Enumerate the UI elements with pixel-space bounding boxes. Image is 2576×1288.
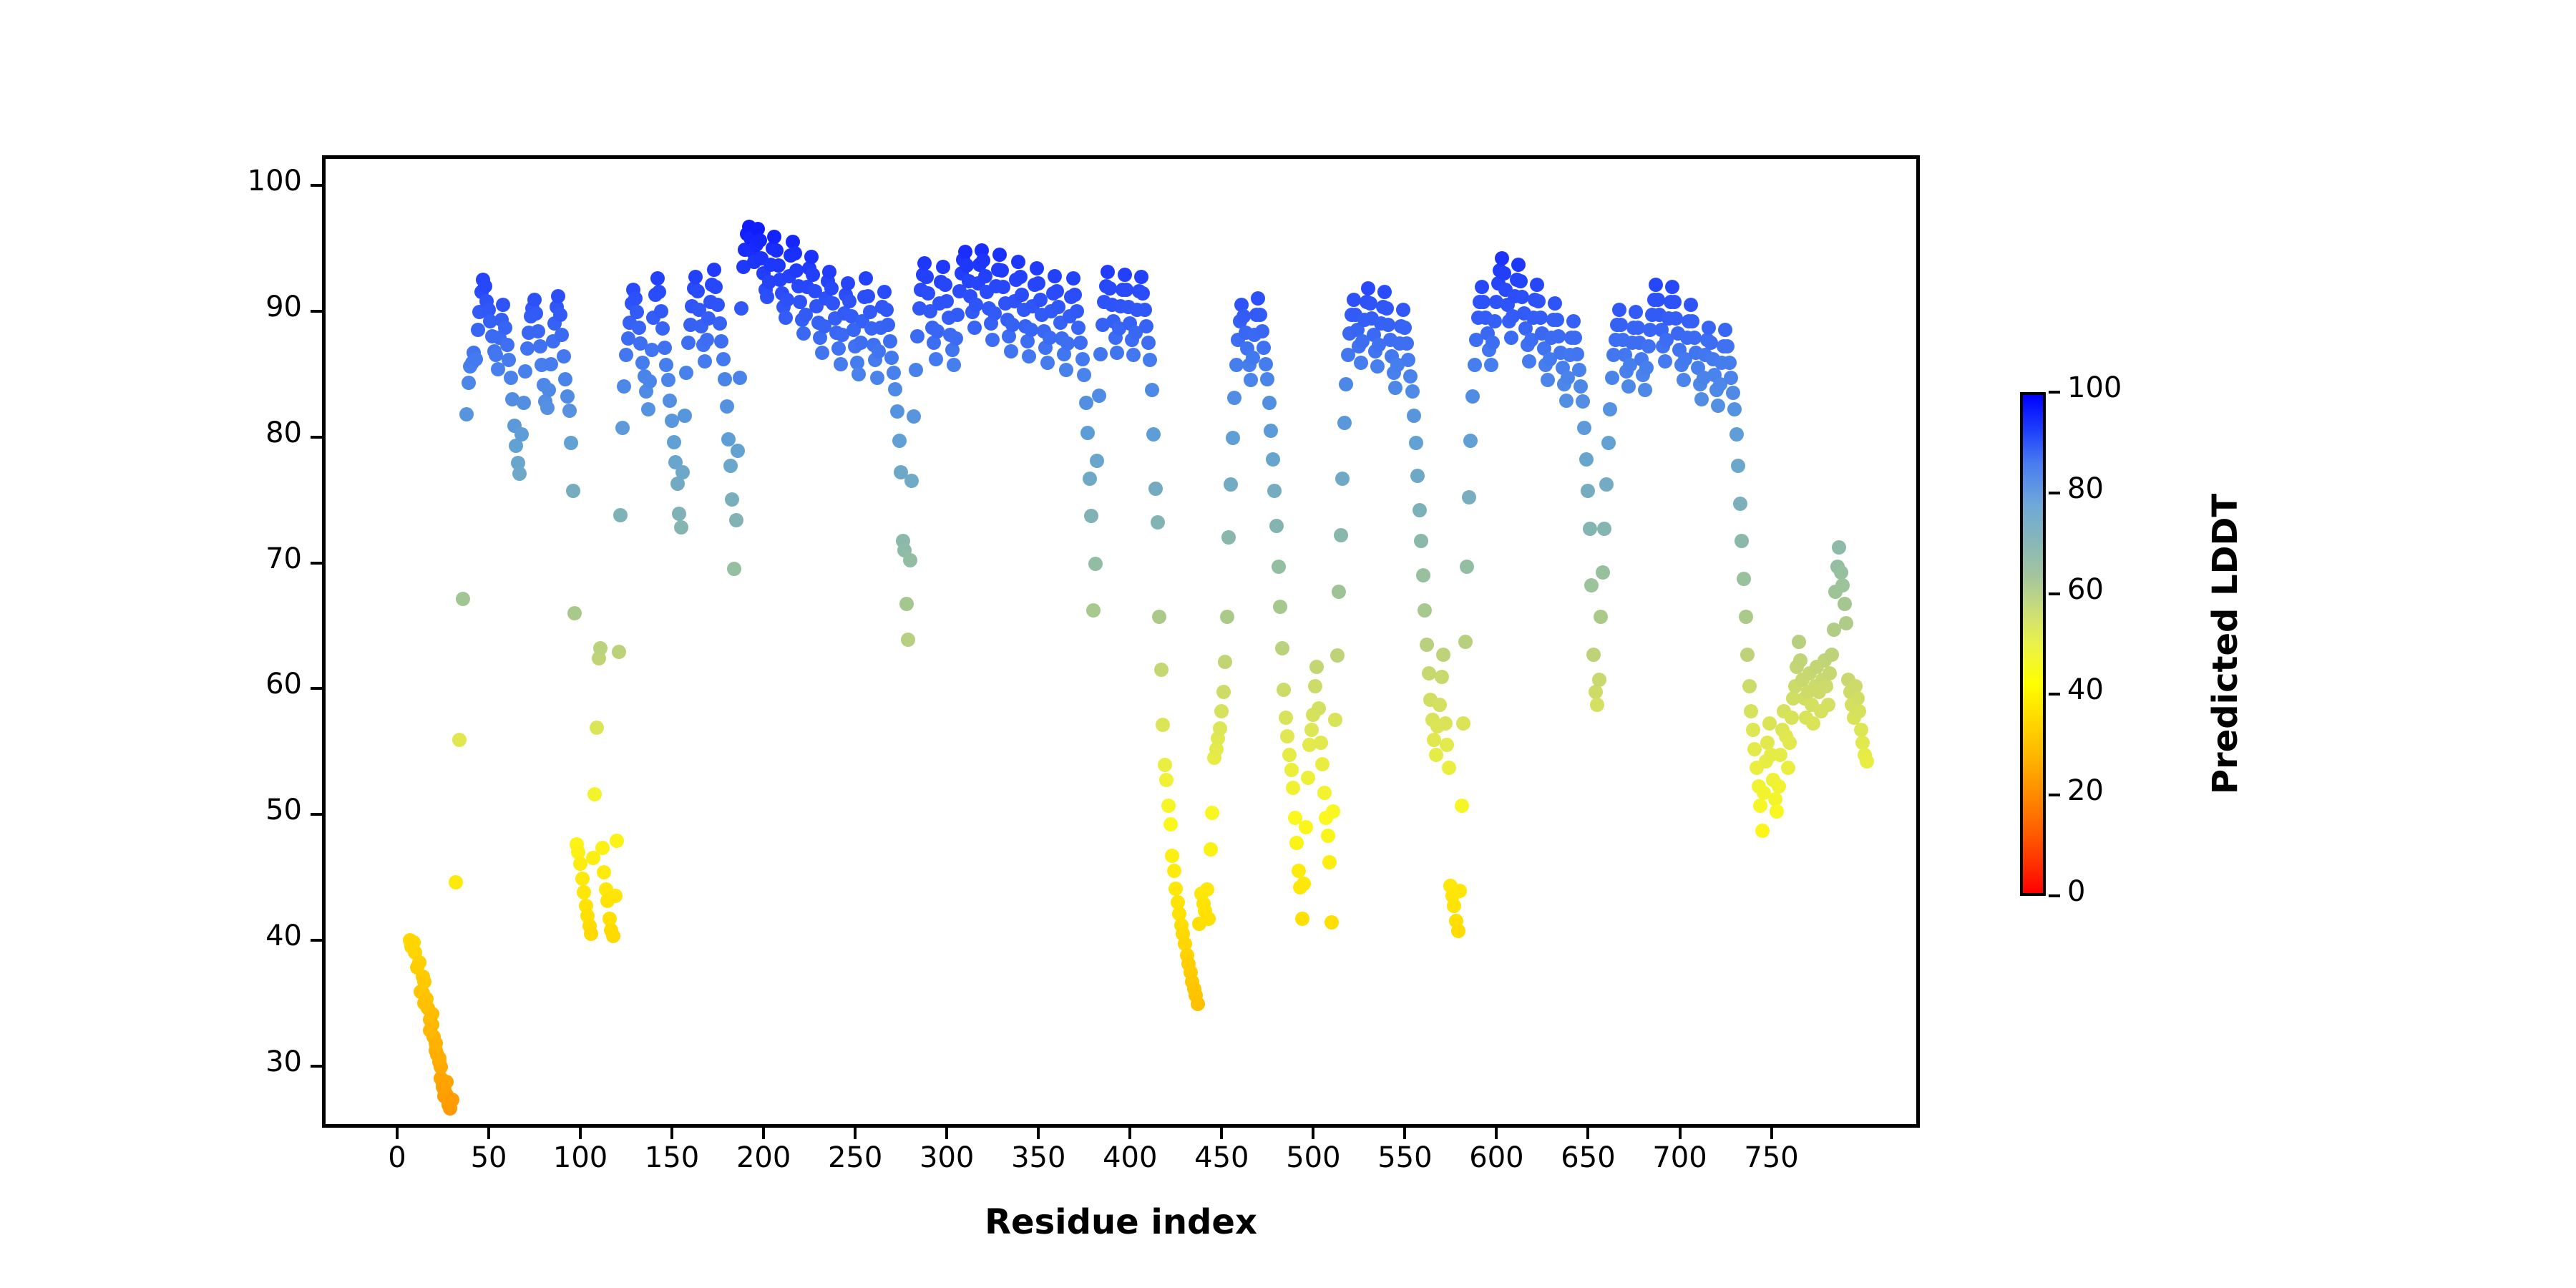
scatter-point xyxy=(1684,298,1698,312)
y-tick-mark xyxy=(311,687,322,690)
scatter-point xyxy=(1629,305,1643,319)
scatter-point xyxy=(1793,653,1807,668)
scatter-point xyxy=(767,230,781,244)
scatter-point xyxy=(1280,729,1294,743)
scatter-point xyxy=(907,409,921,424)
scatter-point xyxy=(675,465,690,479)
scatter-point xyxy=(553,308,567,322)
scatter-point xyxy=(938,278,952,292)
scatter-point xyxy=(877,285,892,299)
scatter-point xyxy=(564,436,578,450)
scatter-point xyxy=(1403,369,1418,384)
scatter-point xyxy=(1361,281,1375,296)
scatter-point xyxy=(1169,882,1183,896)
scatter-point xyxy=(1267,484,1282,498)
scatter-point xyxy=(1090,454,1104,468)
scatter-point xyxy=(615,421,630,435)
scatter-point xyxy=(628,291,643,306)
scatter-point xyxy=(688,270,703,284)
plot-axes xyxy=(322,155,1920,1128)
scatter-point xyxy=(1458,635,1473,649)
scatter-point xyxy=(1141,336,1156,350)
scatter-point xyxy=(595,841,610,855)
scatter-point xyxy=(632,321,646,335)
scatter-point xyxy=(1463,434,1478,448)
scatter-point xyxy=(691,284,705,298)
x-tick-label: 550 xyxy=(1362,1143,1448,1172)
x-tick-mark xyxy=(1586,1128,1589,1139)
scatter-point xyxy=(606,929,620,943)
scatter-point xyxy=(1737,572,1751,586)
scatter-point xyxy=(1401,353,1415,367)
scatter-point xyxy=(1226,431,1240,445)
y-tick-mark xyxy=(311,562,322,565)
scatter-point xyxy=(1835,578,1850,592)
scatter-point xyxy=(1400,336,1414,351)
scatter-point xyxy=(612,645,626,659)
scatter-point xyxy=(1251,291,1265,306)
scatter-point xyxy=(1324,915,1339,930)
scatter-point xyxy=(753,233,767,248)
scatter-point xyxy=(1221,530,1236,545)
scatter-point xyxy=(518,364,532,379)
scatter-point xyxy=(1138,303,1152,317)
scatter-point xyxy=(1436,648,1450,662)
scatter-point xyxy=(1048,269,1062,283)
scatter-point xyxy=(1832,540,1846,555)
x-tick-mark xyxy=(854,1128,857,1139)
scatter-point xyxy=(1806,716,1820,731)
scatter-point xyxy=(1416,568,1430,582)
scatter-point xyxy=(713,316,727,331)
scatter-point xyxy=(1462,490,1476,504)
scatter-point xyxy=(555,328,569,342)
scatter-point xyxy=(815,346,829,360)
scatter-point xyxy=(769,243,784,258)
scatter-point xyxy=(806,268,820,282)
scatter-point xyxy=(698,354,712,369)
scatter-point xyxy=(1244,373,1258,387)
x-tick-mark xyxy=(1679,1128,1682,1139)
scatter-point xyxy=(1139,319,1153,333)
x-tick-label: 350 xyxy=(995,1143,1081,1172)
colorbar-tick-label: 20 xyxy=(2067,776,2104,805)
scatter-point xyxy=(478,279,492,293)
scatter-point xyxy=(643,374,657,389)
scatter-point xyxy=(654,304,668,318)
scatter-point xyxy=(1080,426,1095,440)
x-tick-mark xyxy=(1770,1128,1773,1139)
scatter-point xyxy=(1601,436,1616,450)
scatter-point xyxy=(1224,477,1238,492)
scatter-point xyxy=(1488,314,1502,328)
scatter-point xyxy=(658,341,672,355)
x-tick-label: 450 xyxy=(1179,1143,1264,1172)
scatter-point xyxy=(1200,882,1214,897)
scatter-point xyxy=(1266,452,1280,467)
colorbar-tick-label: 80 xyxy=(2067,474,2104,503)
scatter-point xyxy=(879,303,894,317)
scatter-point xyxy=(804,250,819,264)
scatter-point xyxy=(566,484,580,498)
scatter-point xyxy=(1321,829,1335,843)
scatter-point xyxy=(527,293,542,307)
scatter-point xyxy=(613,508,628,522)
scatter-point xyxy=(1755,824,1770,838)
colorbar-gradient xyxy=(2020,392,2046,896)
scatter-point xyxy=(1586,648,1601,662)
scatter-point xyxy=(1397,321,1412,335)
colorbar-tick-mark xyxy=(2049,693,2060,696)
scatter-point xyxy=(760,290,774,304)
scatter-point xyxy=(1272,560,1286,574)
x-tick-mark xyxy=(1403,1128,1406,1139)
x-tick-label: 50 xyxy=(446,1143,532,1172)
y-tick-mark xyxy=(311,184,322,187)
scatter-point xyxy=(1504,331,1518,345)
scatter-point xyxy=(540,401,555,415)
scatter-point xyxy=(573,857,587,871)
y-tick-label: 80 xyxy=(173,419,302,447)
scatter-point xyxy=(1584,578,1599,592)
scatter-point xyxy=(1161,799,1176,813)
scatter-point xyxy=(1033,293,1048,307)
scatter-point xyxy=(1370,359,1385,374)
scatter-point xyxy=(1088,557,1103,571)
scatter-point xyxy=(432,1051,447,1065)
scatter-point xyxy=(731,444,745,458)
scatter-point xyxy=(1191,997,1205,1011)
scatter-point xyxy=(1497,266,1511,280)
scatter-point xyxy=(1740,648,1755,662)
scatter-point xyxy=(1792,635,1806,649)
scatter-point xyxy=(987,306,1002,321)
scatter-point xyxy=(1559,394,1574,408)
scatter-point xyxy=(1581,484,1595,498)
scatter-point xyxy=(1289,836,1304,850)
scatter-point xyxy=(469,352,483,366)
x-tick-mark xyxy=(579,1128,582,1139)
scatter-point xyxy=(496,298,510,312)
scatter-point xyxy=(452,733,467,747)
scatter-point xyxy=(729,513,743,527)
scatter-point xyxy=(1146,427,1161,441)
scatter-point xyxy=(1548,296,1562,311)
scatter-point xyxy=(1314,736,1328,750)
scatter-point xyxy=(1339,377,1353,391)
scatter-point xyxy=(562,404,577,418)
scatter-point xyxy=(1522,354,1536,369)
scatter-point xyxy=(544,357,558,371)
scatter-layer xyxy=(326,159,1916,1124)
scatter-point xyxy=(1451,924,1465,938)
scatter-point xyxy=(917,256,932,270)
scatter-point xyxy=(558,372,572,386)
scatter-point xyxy=(514,427,529,441)
scatter-point xyxy=(1079,396,1093,410)
scatter-point xyxy=(788,246,802,260)
scatter-point xyxy=(723,459,738,473)
scatter-point xyxy=(1485,336,1500,350)
scatter-point xyxy=(1275,641,1289,655)
scatter-point xyxy=(663,394,677,408)
scatter-point xyxy=(1531,294,1546,308)
scatter-point xyxy=(887,366,901,380)
y-tick-label: 90 xyxy=(173,293,302,321)
scatter-point xyxy=(1201,912,1216,926)
x-tick-label: 750 xyxy=(1729,1143,1815,1172)
scatter-point xyxy=(1335,472,1350,486)
scatter-point xyxy=(449,875,463,889)
scatter-point xyxy=(1735,534,1749,548)
scatter-point xyxy=(441,1096,456,1110)
scatter-point xyxy=(1297,877,1311,891)
scatter-point xyxy=(512,467,527,481)
scatter-point xyxy=(1433,698,1447,712)
x-tick-mark xyxy=(396,1128,399,1139)
scatter-point xyxy=(967,321,982,335)
scatter-point xyxy=(456,592,470,606)
colorbar-tick-label: 60 xyxy=(2067,575,2104,604)
scatter-point xyxy=(1422,666,1436,680)
scatter-point xyxy=(661,373,675,387)
scatter-point xyxy=(1447,899,1461,913)
scatter-point xyxy=(947,358,961,372)
scatter-point xyxy=(842,294,857,308)
scatter-point xyxy=(1148,482,1163,496)
scatter-point xyxy=(883,334,897,348)
scatter-point xyxy=(1704,336,1718,350)
scatter-point xyxy=(1770,804,1784,819)
scatter-point xyxy=(1101,265,1115,279)
scatter-point xyxy=(665,414,679,428)
colorbar-tick-mark xyxy=(2049,894,2060,897)
scatter-point xyxy=(1312,701,1326,716)
colorbar-tick-mark xyxy=(2049,794,2060,796)
scatter-point xyxy=(1781,761,1795,775)
y-tick-label: 30 xyxy=(173,1048,302,1076)
scatter-point xyxy=(714,334,728,348)
x-tick-label: 0 xyxy=(354,1143,440,1172)
scatter-point xyxy=(641,402,655,416)
scatter-point xyxy=(577,885,591,899)
scatter-point xyxy=(1592,673,1606,687)
scatter-point xyxy=(1453,884,1467,898)
scatter-point xyxy=(904,474,919,488)
scatter-point xyxy=(1119,283,1133,297)
scatter-point xyxy=(1468,358,1482,372)
scatter-point xyxy=(1724,371,1738,385)
scatter-point xyxy=(1456,716,1470,731)
scatter-point xyxy=(1236,309,1251,323)
scatter-point xyxy=(1667,295,1682,309)
scatter-point xyxy=(1050,284,1064,298)
scatter-point xyxy=(1739,610,1753,624)
scatter-point xyxy=(1455,799,1469,813)
scatter-point xyxy=(1860,754,1874,769)
x-tick-label: 600 xyxy=(1453,1143,1539,1172)
scatter-point xyxy=(1282,748,1297,762)
scatter-point xyxy=(718,372,732,386)
scatter-point xyxy=(789,263,804,278)
scatter-point xyxy=(884,351,899,365)
scatter-point xyxy=(1066,271,1080,286)
scatter-point xyxy=(630,305,644,319)
y-tick-label: 60 xyxy=(173,670,302,698)
scatter-point xyxy=(1762,716,1777,731)
x-tick-mark xyxy=(1128,1128,1131,1139)
scatter-point xyxy=(1334,528,1348,542)
scatter-point xyxy=(903,553,917,567)
scatter-point xyxy=(1317,786,1332,800)
scatter-point xyxy=(708,280,723,294)
scatter-point xyxy=(1152,610,1166,624)
scatter-point xyxy=(1566,314,1581,328)
scatter-point xyxy=(940,294,954,308)
scatter-point xyxy=(992,248,1007,262)
scatter-point xyxy=(1605,371,1619,385)
scatter-point xyxy=(1720,339,1735,353)
scatter-point xyxy=(1118,268,1132,282)
scatter-point xyxy=(652,285,666,299)
x-tick-mark xyxy=(487,1128,490,1139)
x-tick-label: 250 xyxy=(812,1143,898,1172)
scatter-point xyxy=(1024,323,1038,337)
scatter-point xyxy=(617,379,631,394)
scatter-point xyxy=(1418,603,1432,618)
scatter-point xyxy=(459,407,474,421)
scatter-point xyxy=(1163,817,1178,831)
scatter-point xyxy=(1603,402,1617,416)
scatter-point xyxy=(1440,738,1454,752)
y-tick-label: 40 xyxy=(173,922,302,950)
x-tick-mark xyxy=(1220,1128,1223,1139)
scatter-point xyxy=(1071,321,1085,335)
scatter-point xyxy=(567,606,582,620)
scatter-point xyxy=(1158,758,1172,772)
scatter-point xyxy=(1347,293,1361,307)
scatter-point xyxy=(1103,281,1117,296)
scatter-point xyxy=(1639,361,1654,375)
scatter-point xyxy=(716,352,731,366)
colorbar-tick-label: 0 xyxy=(2067,877,2085,906)
scatter-point xyxy=(1068,288,1082,302)
scatter-point xyxy=(929,352,943,366)
scatter-point xyxy=(1753,799,1767,813)
scatter-point xyxy=(1284,763,1299,777)
colorbar-tick-mark xyxy=(2049,592,2060,595)
scatter-point xyxy=(575,872,590,886)
scatter-point xyxy=(1073,336,1088,350)
scatter-point xyxy=(1315,757,1330,771)
scatter-point xyxy=(1264,424,1278,438)
scatter-point xyxy=(950,308,965,322)
scatter-point xyxy=(1838,597,1852,611)
scatter-point xyxy=(890,404,904,419)
scatter-point xyxy=(870,371,884,385)
scatter-point xyxy=(1442,761,1456,775)
scatter-point xyxy=(1277,683,1291,697)
scatter-point xyxy=(1077,368,1091,382)
scatter-point xyxy=(1597,522,1611,536)
scatter-point xyxy=(1722,356,1737,370)
y-tick-mark xyxy=(311,310,322,313)
scatter-point xyxy=(542,383,556,397)
scatter-point xyxy=(1665,280,1679,294)
scatter-point xyxy=(1030,261,1044,275)
scatter-point xyxy=(969,298,983,312)
scatter-point xyxy=(1269,519,1284,533)
scatter-point xyxy=(1354,356,1368,370)
scatter-point xyxy=(1651,293,1665,307)
scatter-point xyxy=(1059,363,1073,377)
scatter-point xyxy=(531,324,545,338)
scatter-point xyxy=(707,263,721,277)
scatter-point xyxy=(711,298,725,312)
scatter-point xyxy=(533,339,547,353)
scatter-point xyxy=(1414,534,1428,548)
scatter-point xyxy=(1746,723,1760,737)
scatter-point xyxy=(949,331,963,346)
scatter-point xyxy=(859,271,873,286)
scatter-point xyxy=(1744,704,1758,718)
scatter-point xyxy=(1733,497,1747,511)
scatter-point xyxy=(1040,356,1055,370)
scatter-point xyxy=(1260,372,1274,386)
scatter-point xyxy=(1377,285,1392,299)
scatter-point xyxy=(650,271,665,286)
scatter-point xyxy=(1031,276,1045,291)
scatter-point xyxy=(502,353,516,367)
scatter-point xyxy=(1405,384,1420,399)
scatter-point xyxy=(1134,270,1148,284)
scatter-point xyxy=(1594,610,1608,624)
scatter-point xyxy=(1328,713,1342,727)
colorbar-tick-label: 40 xyxy=(2067,675,2104,704)
scatter-point xyxy=(416,970,430,984)
scatter-point xyxy=(1669,311,1683,326)
scatter-point xyxy=(1070,304,1084,318)
scatter-point xyxy=(1612,303,1626,317)
scatter-point xyxy=(557,349,571,364)
scatter-point xyxy=(635,356,650,370)
scatter-point xyxy=(1205,806,1219,820)
scatter-point xyxy=(1726,386,1740,400)
scatter-point xyxy=(1420,638,1434,652)
scatter-point xyxy=(824,281,839,296)
scatter-point xyxy=(1511,258,1526,272)
scatter-point xyxy=(1590,698,1604,712)
scatter-point xyxy=(892,434,907,448)
scatter-point xyxy=(1143,353,1157,367)
scatter-point xyxy=(1495,251,1509,265)
scatter-point xyxy=(404,940,419,954)
scatter-point xyxy=(1326,804,1340,819)
scatter-point xyxy=(1821,698,1835,712)
x-tick-label: 700 xyxy=(1637,1143,1723,1172)
scatter-point xyxy=(1126,348,1141,362)
scatter-point xyxy=(996,280,1010,294)
scatter-point xyxy=(1204,842,1218,857)
scatter-point xyxy=(610,834,624,848)
scatter-point xyxy=(1301,771,1315,785)
scatter-point xyxy=(1255,324,1269,338)
scatter-point xyxy=(1156,718,1170,732)
scatter-point xyxy=(1363,296,1377,311)
scatter-point xyxy=(727,562,741,576)
scatter-point xyxy=(1407,409,1421,423)
scatter-point xyxy=(834,357,848,371)
